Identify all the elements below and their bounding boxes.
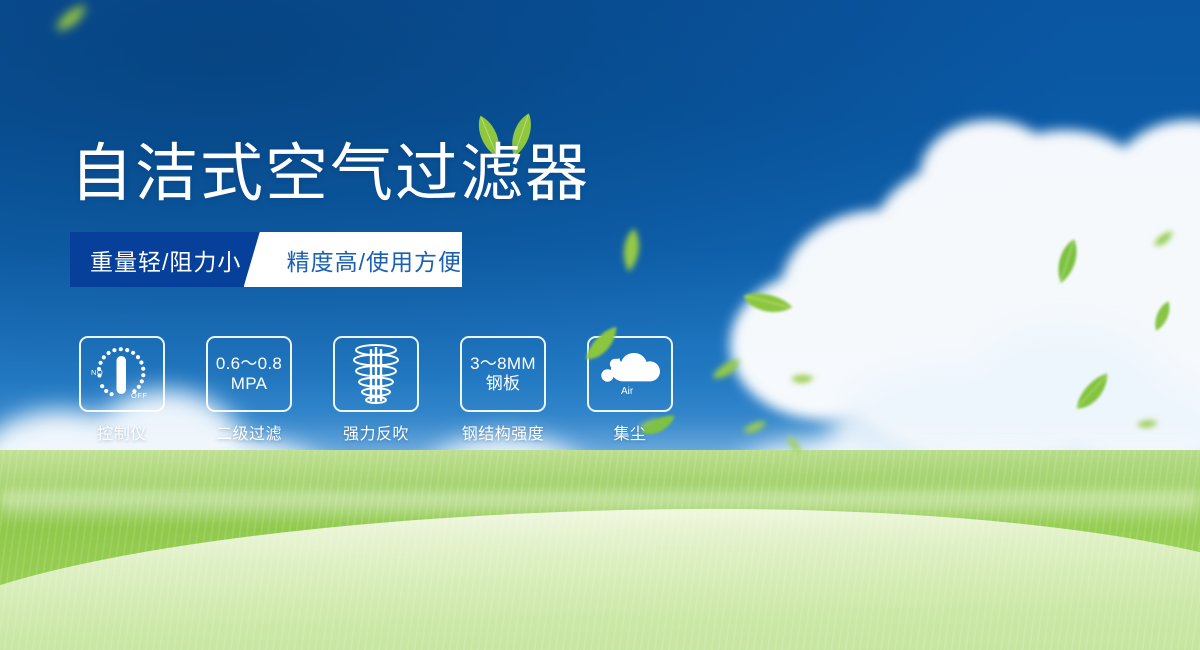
page-title: 自洁式空气过滤器 xyxy=(70,143,590,206)
feature-list: NO OFF 控制仪 0.6～0.8 MPA 二级过滤 xyxy=(78,336,674,444)
grass-field xyxy=(0,450,1200,650)
feature-item-steel[interactable]: 3～8MM 钢板 钢结构强度 xyxy=(459,336,547,444)
feature-icon-box: 3～8MM 钢板 xyxy=(460,336,546,412)
feature-text-line2: 钢板 xyxy=(486,374,521,394)
feature-text-line1: 0.6～0.8 xyxy=(216,354,282,374)
feature-label: 控制仪 xyxy=(97,420,147,444)
product-banner: 自洁式空气过滤器 重量轻/阻力小 精度高/使用方便 xyxy=(0,0,1200,650)
svg-text:Air: Air xyxy=(621,386,634,397)
feature-label: 强力反吹 xyxy=(343,420,409,444)
filter-cartridge-icon xyxy=(347,343,405,405)
feature-icon-box xyxy=(333,336,419,412)
subtitle-right-text: 精度高/使用方便 xyxy=(287,243,462,277)
gauge-icon: NO OFF xyxy=(85,342,159,406)
grass-texture xyxy=(0,450,1200,650)
leaf-icon xyxy=(741,418,769,438)
feature-label: 二级过滤 xyxy=(216,420,282,444)
leaf-icon xyxy=(638,412,680,441)
subtitle-right-panel: 精度高/使用方便 xyxy=(269,232,462,287)
subtitle-divider-slash xyxy=(244,232,270,287)
subtitle-left-panel: 重量轻/阻力小 xyxy=(70,232,269,287)
feature-icon-box: NO OFF xyxy=(79,336,165,412)
subtitle-left-text: 重量轻/阻力小 xyxy=(90,243,241,277)
feature-text-line1: 3～8MM xyxy=(470,354,536,374)
feature-item-dust[interactable]: Air 集尘 xyxy=(586,336,674,444)
svg-text:OFF: OFF xyxy=(131,391,148,400)
feature-item-pressure[interactable]: 0.6～0.8 MPA 二级过滤 xyxy=(205,336,293,444)
feature-icon-box: 0.6～0.8 MPA xyxy=(206,336,292,412)
svg-text:NO: NO xyxy=(91,368,103,377)
feature-item-controller[interactable]: NO OFF 控制仪 xyxy=(78,336,166,444)
subtitle-bar: 重量轻/阻力小 精度高/使用方便 xyxy=(70,232,462,287)
feature-item-blowback[interactable]: 强力反吹 xyxy=(332,336,420,444)
feature-text-line2: MPA xyxy=(231,374,267,394)
feature-label: 钢结构强度 xyxy=(462,420,545,444)
